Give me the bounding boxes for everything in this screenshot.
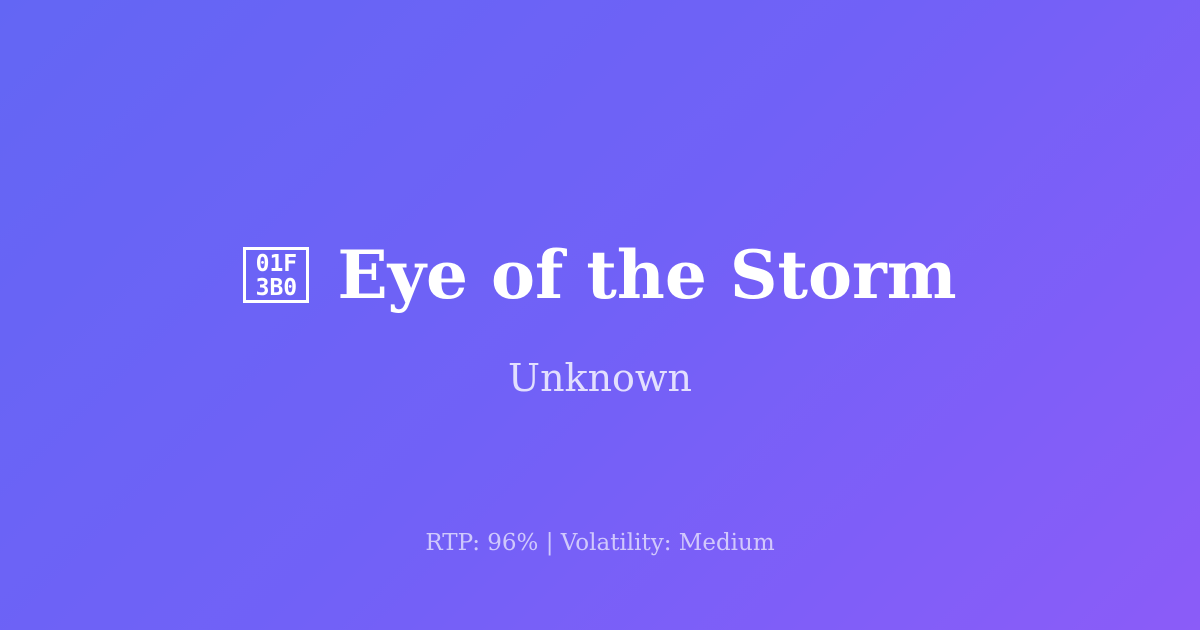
- tofu-codepoint-upper: 01F: [256, 252, 298, 276]
- og-preview-card: 01F 3B0 Eye of the Storm Unknown RTP: 96…: [0, 0, 1200, 630]
- game-stats-footer: RTP: 96% | Volatility: Medium: [0, 529, 1200, 557]
- slot-machine-icon: 01F 3B0: [243, 247, 309, 303]
- tofu-codepoint-lower: 3B0: [256, 276, 298, 300]
- page-title: Eye of the Storm: [337, 232, 956, 318]
- provider-subtitle: Unknown: [508, 356, 692, 400]
- card-center-block: 01F 3B0 Eye of the Storm Unknown: [0, 232, 1200, 400]
- title-row: 01F 3B0 Eye of the Storm: [243, 232, 956, 318]
